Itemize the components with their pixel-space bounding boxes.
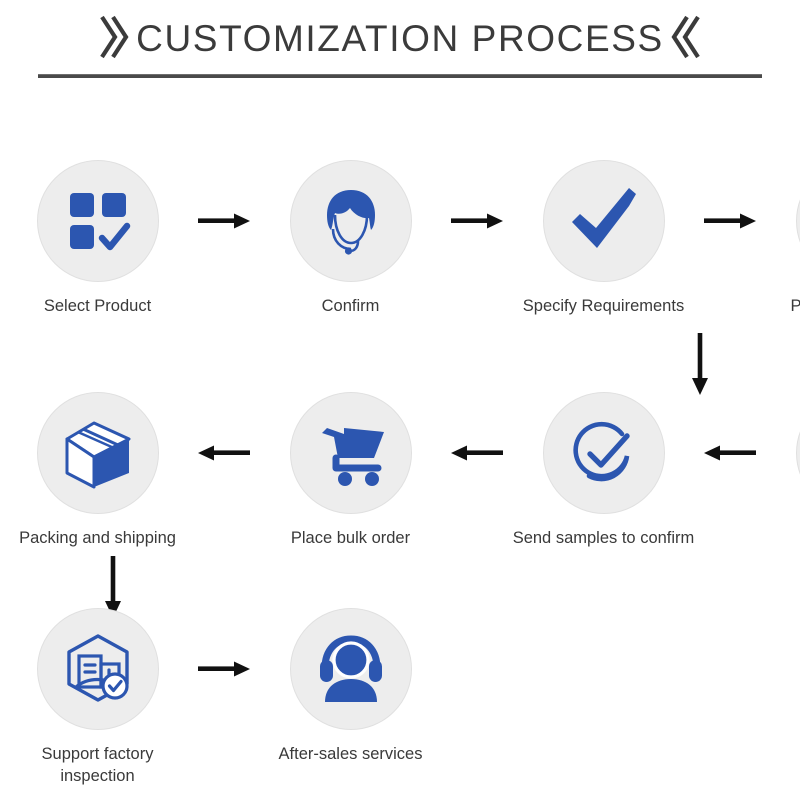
page-title: CUSTOMIZATION PROCESS [136, 18, 664, 60]
arrow-right-icon [195, 608, 253, 730]
icon-circle [290, 392, 412, 514]
arrow-left-icon [701, 392, 759, 514]
icon-circle [543, 160, 665, 282]
process-step-support-factory-inspection[interactable]: Support factory inspection [0, 608, 195, 788]
arrow-left-icon [448, 392, 506, 514]
title-divider [38, 74, 762, 78]
support-agent-icon [315, 634, 387, 704]
row-spacer [448, 608, 800, 609]
arrow-right-icon [448, 160, 506, 282]
process-step-make-samples[interactable]: Make samples [759, 392, 800, 550]
process-step-label: Specify Requirements [523, 296, 684, 318]
factory-inspection-icon [62, 633, 134, 705]
icon-circle [37, 392, 159, 514]
headset-woman-icon [315, 185, 387, 257]
chevron-left-double-icon [670, 13, 704, 65]
process-step-provide-quotation[interactable]: Provide Quotation [759, 160, 800, 318]
grid-check-icon [64, 187, 132, 255]
process-step-label: Send samples to confirm [513, 528, 695, 550]
package-box-icon [61, 417, 135, 489]
process-step-label: Confirm [322, 296, 380, 318]
process-row-3: Support factory inspection After-sales s… [0, 608, 800, 788]
icon-circle [796, 160, 800, 282]
process-step-send-samples-to-confirm[interactable]: Send samples to confirm [506, 392, 701, 550]
process-step-packing-and-shipping[interactable]: Packing and shipping [0, 392, 195, 550]
process-row-1: Select Product Confirm [0, 160, 800, 318]
check-circle-icon [567, 416, 641, 490]
icon-circle [290, 160, 412, 282]
arrow-left-icon [195, 392, 253, 514]
shopping-cart-icon [314, 418, 388, 488]
process-row-2: Packing and shipping Place bulk order [0, 392, 800, 550]
process-step-label: Place bulk order [291, 528, 410, 550]
icon-circle [543, 392, 665, 514]
process-step-after-sales-services[interactable]: After-sales services [253, 608, 448, 766]
icon-circle [37, 608, 159, 730]
arrow-right-icon [701, 160, 759, 282]
icon-circle [37, 160, 159, 282]
icon-circle [290, 608, 412, 730]
process-step-label: After-sales services [279, 744, 423, 766]
process-step-label: Select Product [44, 296, 151, 318]
process-step-confirm[interactable]: Confirm [253, 160, 448, 318]
process-step-specify-requirements[interactable]: Specify Requirements [506, 160, 701, 318]
process-step-label: Packing and shipping [19, 528, 176, 550]
title-row: CUSTOMIZATION PROCESS [0, 8, 800, 70]
process-step-select-product[interactable]: Select Product [0, 160, 195, 318]
process-step-place-bulk-order[interactable]: Place bulk order [253, 392, 448, 550]
icon-circle [796, 392, 800, 514]
arrow-right-icon [195, 160, 253, 282]
process-step-label: Support factory inspection [42, 744, 154, 788]
page-header: CUSTOMIZATION PROCESS [0, 0, 800, 92]
checkmark-icon [567, 184, 641, 258]
process-step-label: Provide Quotation [790, 296, 800, 318]
chevron-right-double-icon [96, 13, 130, 65]
arrow-down-icon [685, 333, 715, 395]
